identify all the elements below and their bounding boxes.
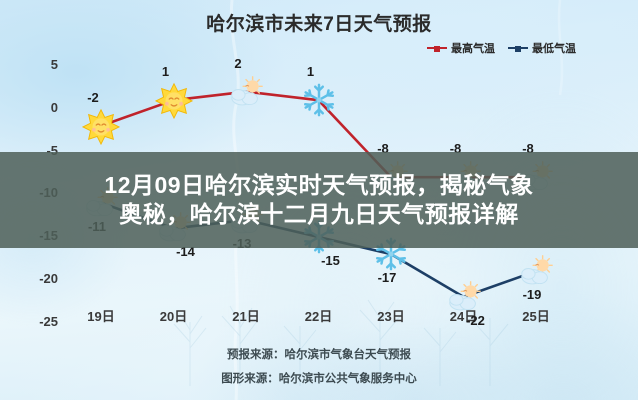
snowflake-icon — [300, 81, 338, 119]
footer-forecast-source: 预报来源：哈尔滨市气象台天气预报 — [0, 346, 638, 362]
x-axis-tick: 21日 — [216, 306, 276, 325]
data-label: -15 — [311, 253, 351, 268]
overlay-banner: 12月09日哈尔滨实时天气预报，揭秘气象 奥秘，哈尔滨十二月九日天气预报详解 — [0, 152, 638, 248]
partly-cloudy-icon — [445, 278, 483, 316]
data-label: 1 — [291, 64, 331, 79]
data-label: -19 — [512, 287, 552, 302]
data-label: 1 — [146, 64, 186, 79]
y-axis-tick: 0 — [18, 100, 58, 115]
partly-cloudy-icon — [227, 73, 265, 111]
x-axis-tick: 20日 — [144, 306, 204, 325]
x-axis-tick: 19日 — [71, 306, 131, 325]
data-label: -2 — [73, 90, 113, 105]
y-axis-tick: -25 — [18, 314, 58, 329]
sun-icon — [82, 107, 120, 145]
y-axis-tick: -20 — [18, 271, 58, 286]
partly-cloudy-icon — [517, 252, 555, 290]
data-label: 2 — [218, 56, 258, 71]
weather-forecast-image: 哈尔滨市未来7日天气预报 最高气温 最低气温 50-5-10-15-20-251… — [0, 0, 638, 400]
data-label: -17 — [367, 270, 407, 285]
sun-icon — [155, 81, 193, 119]
x-axis-tick: 25日 — [506, 306, 566, 325]
x-axis-tick: 22日 — [289, 306, 349, 325]
footer-graphic-source: 图形来源：哈尔滨市公共气象服务中心 — [0, 370, 638, 386]
overlay-banner-line-1: 12月09日哈尔滨实时天气预报，揭秘气象 — [104, 171, 533, 200]
x-axis-tick: 23日 — [361, 306, 421, 325]
overlay-banner-line-2: 奥秘，哈尔滨十二月九日天气预报详解 — [119, 200, 519, 229]
data-label: -22 — [456, 313, 496, 328]
y-axis-tick: 5 — [18, 57, 58, 72]
